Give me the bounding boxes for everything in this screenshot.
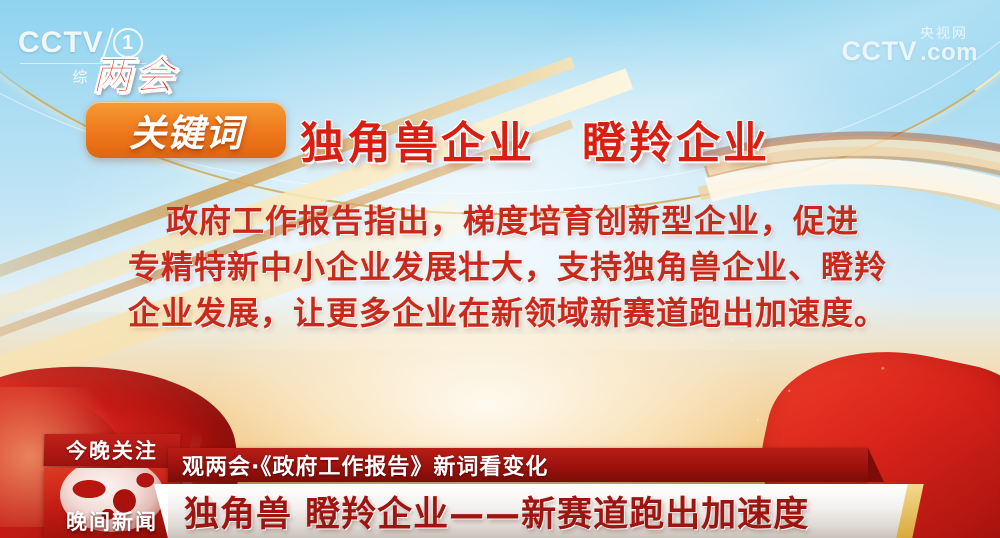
headline-text: 独角兽 瞪羚企业——新赛道跑出加速度 — [184, 486, 809, 537]
body-line: 政府工作报告指出，梯度培育创新型企业，促进 — [166, 198, 888, 244]
watermark-cn-label: 央视网 — [920, 26, 978, 40]
body-paragraph: 政府工作报告指出，梯度培育创新型企业，促进 专精特新中小企业发展壮大，支持独角兽… — [128, 198, 888, 336]
body-line: 企业发展，让更多企业在新领域新赛道跑出加速度。 — [128, 290, 888, 336]
headline-bar: 独角兽 瞪羚企业——新赛道跑出加速度 — [168, 484, 908, 538]
lianghui-label: 两会 — [92, 56, 301, 96]
keyword-pill-label: 关键词 — [129, 103, 243, 157]
body-line: 专精特新中小企业发展壮大，支持独角兽企业、瞪羚 — [128, 244, 888, 290]
subtitle-bar: 观两会·《政府工作报告》新词看变化 — [168, 448, 868, 482]
watermark-brand: CCTV — [841, 38, 917, 65]
lower-third-banner: 今晚关注 晚间新闻 观两会·《政府工作报告》新词看变化 独角兽 瞪羚企业——新赛… — [0, 430, 1000, 538]
watermark-right-group: 央视网 .com — [920, 26, 978, 65]
subtitle-text: 观两会·《政府工作报告》新词看变化 — [182, 449, 548, 481]
focus-tab: 今晚关注 — [43, 434, 180, 466]
focus-tab-label: 今晚关注 — [65, 435, 158, 465]
watermark-row: CCTV 央视网 .com — [841, 26, 978, 65]
cctv-wordmark: CCTV — [18, 26, 104, 60]
broadcast-frame: CCTV 1 综 CCTV 央视网 .com 两会 关键词 独角兽企业 瞪羚企业… — [0, 0, 1000, 538]
cctv-com-watermark: CCTV 央视网 .com — [841, 26, 978, 65]
page-title: 独角兽企业 瞪羚企业 — [300, 113, 940, 175]
keyword-pill: 关键词 — [86, 102, 286, 158]
watermark-suffix: .com — [920, 39, 978, 66]
keyword-badge: 两会 关键词 — [86, 56, 301, 174]
